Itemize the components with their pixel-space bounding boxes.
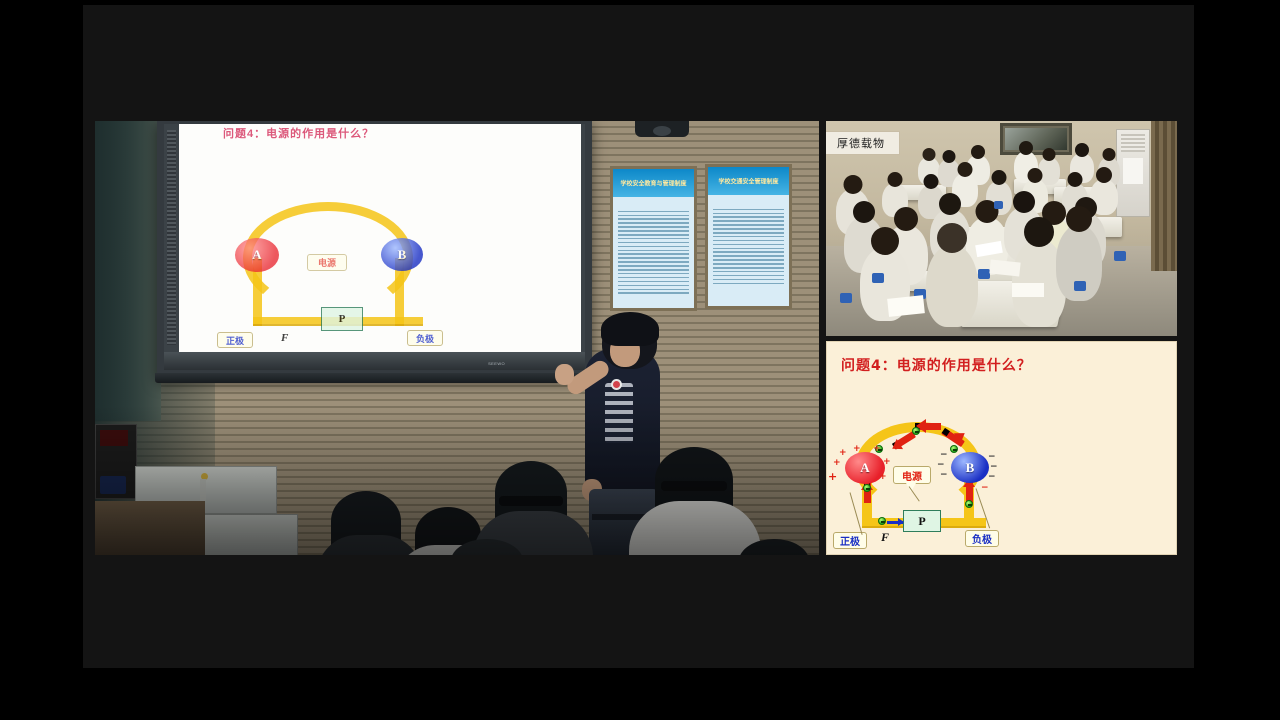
- stool: [978, 269, 990, 279]
- plus-sign: +: [883, 457, 891, 467]
- stool: [872, 273, 884, 283]
- projected-slide-surface: 问题4：电源的作用是什么？ A B P 电源 正极 负极 F: [179, 124, 581, 352]
- negative-pole-callout: 负极: [407, 330, 443, 346]
- minus-sign: −: [940, 470, 948, 480]
- stool: [1074, 281, 1086, 291]
- window-curtain: [1151, 121, 1177, 271]
- poster-text-lines: [713, 209, 784, 298]
- plus-sign: +: [833, 458, 841, 468]
- electron: [863, 484, 871, 492]
- student: [926, 245, 978, 327]
- minus-sign: −: [990, 462, 998, 472]
- negative-pole-callout: 负极: [965, 530, 999, 547]
- projected-screen: 问题4：电源的作用是什么？ A B P 电源 正极 负极 F: [179, 124, 581, 352]
- plus-sign: +: [853, 444, 861, 454]
- whiteboard-speaker-grill: [167, 130, 176, 345]
- minus-sign: −: [940, 450, 948, 460]
- air-conditioner: [1116, 129, 1150, 217]
- poster-header: 学校安全教育与管理制度: [613, 169, 694, 197]
- minus-sign: −: [988, 452, 996, 462]
- screen-root: 问题4：电源的作用是什么？ A B P 电源 正极 负极 F: [0, 0, 1280, 720]
- minus-sign: −: [981, 483, 989, 493]
- whiteboard-brand-label: SEEWO: [488, 361, 505, 366]
- plus-sign: +: [839, 448, 847, 458]
- stool: [840, 293, 852, 303]
- positive-pole-leader: [850, 492, 863, 535]
- sphere-b: B: [951, 452, 989, 483]
- device-p: P: [903, 510, 941, 532]
- worksheet: [1012, 283, 1044, 297]
- wall-poster-right: 学校交通安全管理制度: [705, 164, 792, 309]
- projected-slide-title: 问题4：电源的作用是什么？: [223, 125, 374, 141]
- slide-panel[interactable]: 问题4：电源的作用是什么？: [826, 341, 1177, 555]
- projected-circuit-diagram: A B P 电源 正极 负极 F: [209, 202, 469, 342]
- whiteboard-shelf: [155, 373, 595, 383]
- calligraphy-banner: 厚德载物: [826, 131, 900, 155]
- ceiling-camera-icon: [635, 121, 689, 137]
- poster-header: 学校交通安全管理制度: [708, 167, 789, 195]
- main-video-feed[interactable]: 问题4：电源的作用是什么？ A B P 电源 正极 负极 F: [95, 121, 819, 555]
- plus-sign: +: [873, 444, 881, 454]
- circuit-diagram: A B + + + + + + + − − − − − − − P F 电源: [833, 422, 1173, 552]
- wall-poster-left: 学校安全教育与管理制度: [610, 166, 697, 311]
- plus-sign: +: [828, 470, 837, 483]
- worksheet: [887, 295, 925, 317]
- force-label: F: [881, 530, 889, 545]
- poster-text-lines: [618, 211, 689, 300]
- poster-heading-text: 学校安全教育与管理制度: [620, 179, 686, 188]
- worksheet: [989, 259, 1020, 276]
- sphere-a: A: [235, 238, 279, 272]
- wall-painting: [1000, 123, 1072, 155]
- electron: [912, 427, 920, 435]
- positive-pole-callout: 正极: [217, 332, 253, 348]
- electron: [965, 500, 973, 508]
- foreground-shadow: [95, 405, 819, 555]
- plus-sign: +: [879, 472, 887, 482]
- classroom-video-feed[interactable]: 厚德载物: [826, 121, 1177, 336]
- force-arrow: [887, 521, 903, 524]
- stool: [994, 201, 1003, 209]
- poster-heading-text: 学校交通安全管理制度: [718, 177, 778, 186]
- slide-title: 问题4：电源的作用是什么？: [841, 355, 1032, 375]
- electron: [878, 517, 886, 525]
- interactive-whiteboard[interactable]: 问题4：电源的作用是什么？ A B P 电源 正极 负极 F: [157, 121, 592, 377]
- minus-sign: −: [988, 472, 996, 482]
- electron: [950, 445, 958, 453]
- source-callout: 电源: [307, 254, 347, 271]
- sphere-b: B: [381, 238, 423, 271]
- minus-sign: −: [937, 460, 945, 470]
- stool: [1114, 251, 1126, 261]
- source-callout: 电源: [893, 466, 931, 484]
- whiteboard-bottom-bezel: SEEWO: [164, 352, 585, 370]
- device-p: P: [321, 307, 363, 331]
- force-label: F: [281, 332, 288, 344]
